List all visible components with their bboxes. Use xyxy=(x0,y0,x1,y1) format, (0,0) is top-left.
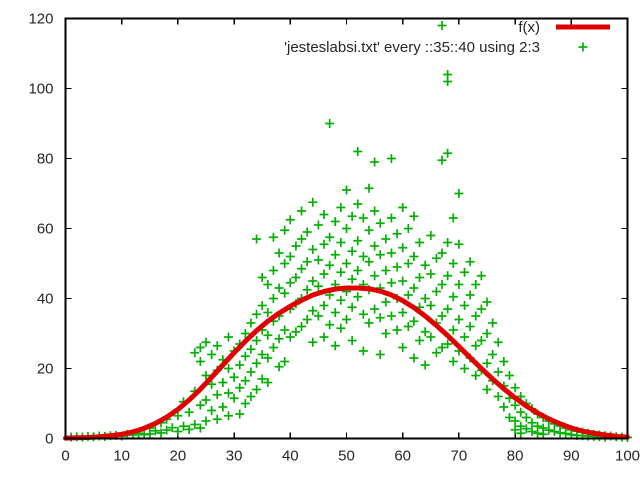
x-tick-label: 50 xyxy=(338,448,355,465)
x-tick-label: 80 xyxy=(507,448,524,465)
x-tick-label: 20 xyxy=(170,448,187,465)
x-tick-label: 40 xyxy=(282,448,299,465)
legend-label-fx: f(x) xyxy=(518,19,540,36)
x-tick-label: 10 xyxy=(113,448,130,465)
canvas-background xyxy=(0,0,640,480)
legend-label-datafile: 'jesteslabsi.txt' every ::35::40 using 2… xyxy=(284,39,540,56)
y-tick-label: 20 xyxy=(37,361,54,378)
y-tick-label: 100 xyxy=(28,81,53,98)
x-tick-label: 60 xyxy=(394,448,411,465)
gnuplot-canvas: 020406080100120 0102030405060708090100 f… xyxy=(0,0,640,480)
y-tick-label: 120 xyxy=(28,11,53,28)
y-tick-label: 40 xyxy=(37,291,54,308)
x-tick-label: 70 xyxy=(451,448,468,465)
x-tick-label: 90 xyxy=(563,448,580,465)
x-tick-label: 0 xyxy=(61,448,69,465)
plot-svg: 020406080100120 0102030405060708090100 f… xyxy=(0,0,640,480)
x-tick-label: 100 xyxy=(615,448,640,465)
x-tick-label: 30 xyxy=(226,448,243,465)
y-tick-label: 60 xyxy=(37,221,54,238)
y-tick-label: 80 xyxy=(37,151,54,168)
y-tick-label: 0 xyxy=(45,431,53,448)
